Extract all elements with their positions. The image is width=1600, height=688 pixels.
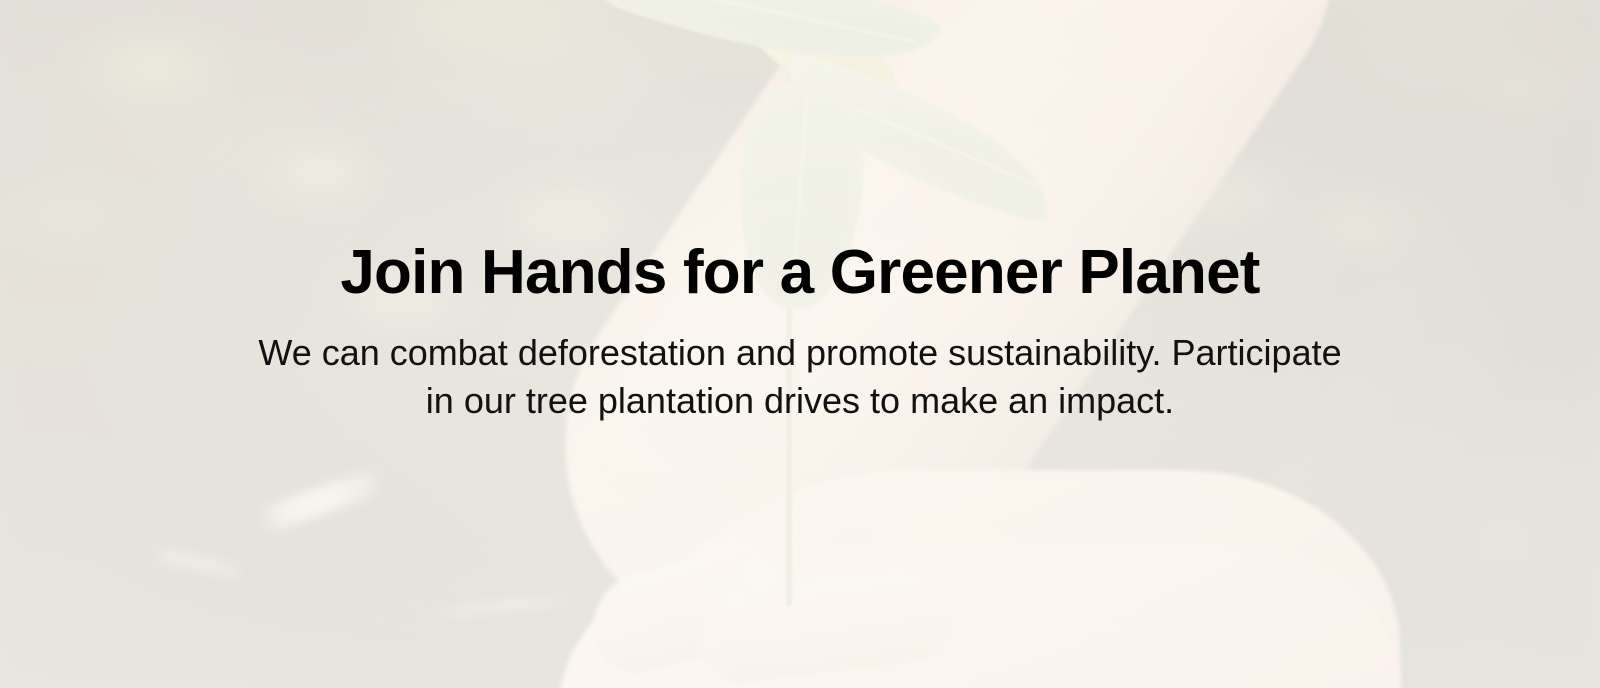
hero-banner: Join Hands for a Greener Planet We can c… bbox=[0, 0, 1600, 688]
hero-headline: Join Hands for a Greener Planet bbox=[340, 240, 1259, 307]
hero-subheadline-line-1: We can combat deforestation and promote … bbox=[258, 329, 1341, 378]
hero-content: Join Hands for a Greener Planet We can c… bbox=[0, 0, 1600, 688]
hero-subheadline: We can combat deforestation and promote … bbox=[258, 329, 1341, 427]
hero-subheadline-line-2: in our tree plantation drives to make an… bbox=[258, 377, 1341, 426]
